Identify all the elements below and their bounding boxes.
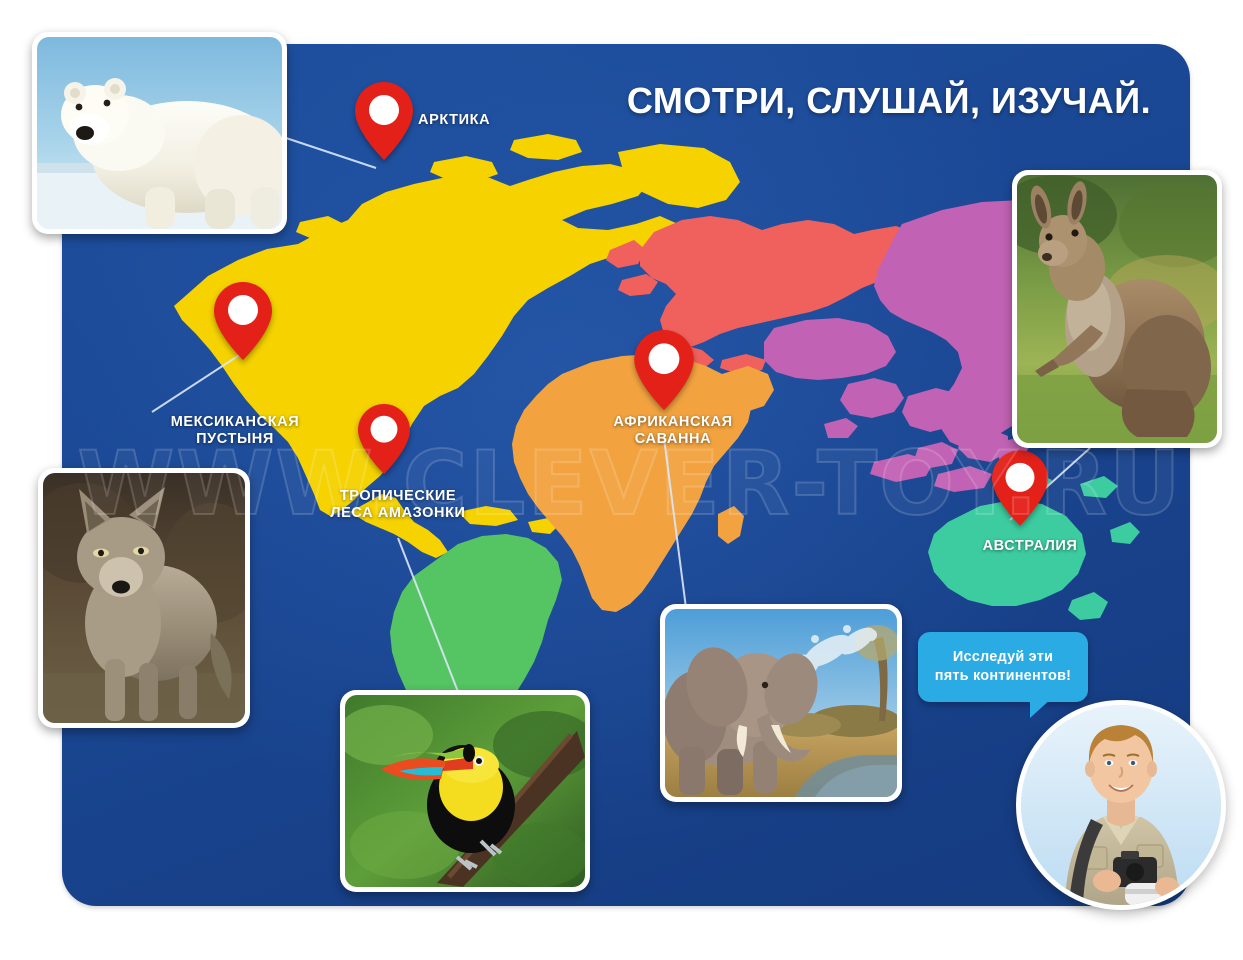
map-pin-amazon[interactable] <box>358 404 410 474</box>
label-amazon: ТРОПИЧЕСКИЕ ЛЕСА АМАЗОНКИ <box>302 488 494 522</box>
label-african-savanna-line2: САВАННА <box>588 431 758 448</box>
speech-bubble: Исследуй эти пять континентов! <box>918 632 1088 702</box>
label-amazon-line2: ЛЕСА АМАЗОНКИ <box>302 505 494 522</box>
label-arctic-text: АРКТИКА <box>418 112 490 128</box>
speech-bubble-line1: Исследуй эти <box>935 648 1071 667</box>
label-australia: АВСТРАЛИЯ <box>950 538 1110 555</box>
label-mexican-desert: МЕКСИКАНСКАЯ ПУСТЫНЯ <box>132 414 338 448</box>
photo-toucan[interactable] <box>340 690 590 892</box>
avatar <box>1016 700 1226 910</box>
speech-bubble-tail <box>1030 698 1052 718</box>
label-african-savanna-line1: АФРИКАНСКАЯ <box>588 414 758 431</box>
photo-kangaroo[interactable] <box>1012 170 1222 448</box>
map-pin-african-savanna[interactable] <box>634 330 694 410</box>
speech-bubble-text: Исследуй эти пять континентов! <box>935 648 1071 685</box>
photo-elephant-image <box>665 609 897 797</box>
photo-coyote[interactable] <box>38 468 250 728</box>
map-pin-mexican-desert[interactable] <box>214 282 272 360</box>
label-mexican-desert-line1: МЕКСИКАНСКАЯ <box>132 414 338 431</box>
label-african-savanna: АФРИКАНСКАЯ САВАННА <box>588 414 758 448</box>
photo-polar-bear[interactable] <box>32 32 287 234</box>
label-arctic: АРКТИКА <box>418 112 490 129</box>
speech-bubble-line2: пять континентов! <box>935 667 1071 686</box>
photo-elephant[interactable] <box>660 604 902 802</box>
photo-kangaroo-image <box>1017 175 1217 443</box>
photographer-portrait <box>1021 705 1221 905</box>
label-mexican-desert-line2: ПУСТЫНЯ <box>132 431 338 448</box>
label-amazon-line1: ТРОПИЧЕСКИЕ <box>302 488 494 505</box>
map-pin-arctic[interactable] <box>355 82 413 160</box>
label-australia-text: АВСТРАЛИЯ <box>983 538 1078 554</box>
photo-toucan-image <box>345 695 585 887</box>
photo-coyote-image <box>43 473 245 723</box>
photo-polar-bear-image <box>37 37 282 229</box>
map-pin-australia[interactable] <box>992 450 1048 526</box>
